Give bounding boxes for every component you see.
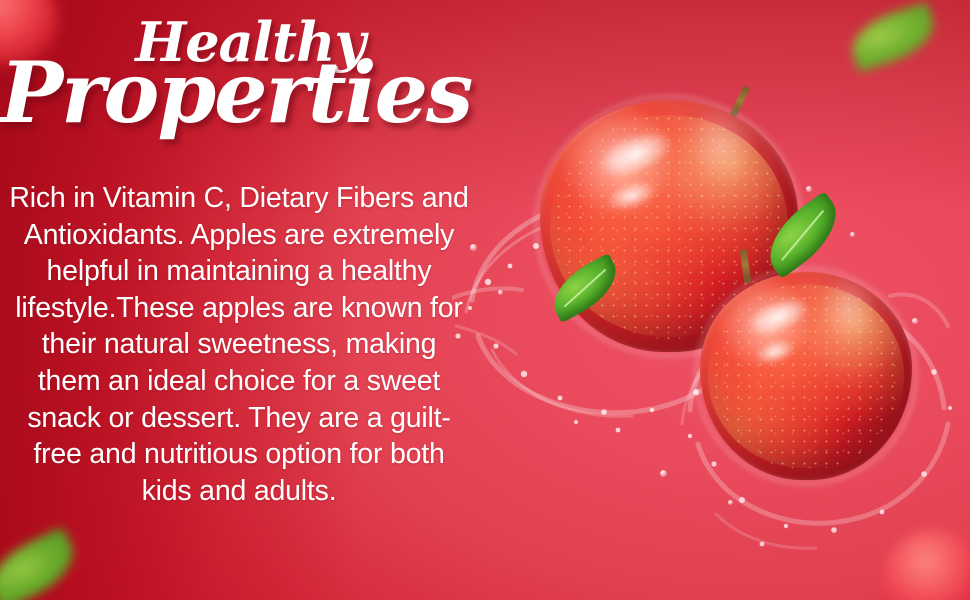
blurred-leaf-bottom-left-icon [0,526,84,600]
water-droplet [660,470,667,477]
healthy-properties-banner: Healthy Properties Rich in Vitamin C, Di… [0,0,970,600]
body-paragraph: Rich in Vitamin C, Dietary Fibers and An… [8,180,470,509]
water-droplet [470,244,477,251]
banner-body-copy: Rich in Vitamin C, Dietary Fibers and An… [8,180,470,509]
water-droplet [806,186,812,192]
blurred-leaf-top-right-icon [845,2,941,72]
water-droplet [850,232,855,237]
apple-small-water-film [695,267,917,485]
water-droplet [498,290,503,295]
apple-small [700,272,912,480]
blurred-apple-bottom-right-icon [882,530,970,600]
water-droplet [728,500,733,505]
banner-title: Healthy Properties [0,16,470,130]
water-droplet [912,318,918,324]
title-line-properties: Properties [0,56,470,130]
